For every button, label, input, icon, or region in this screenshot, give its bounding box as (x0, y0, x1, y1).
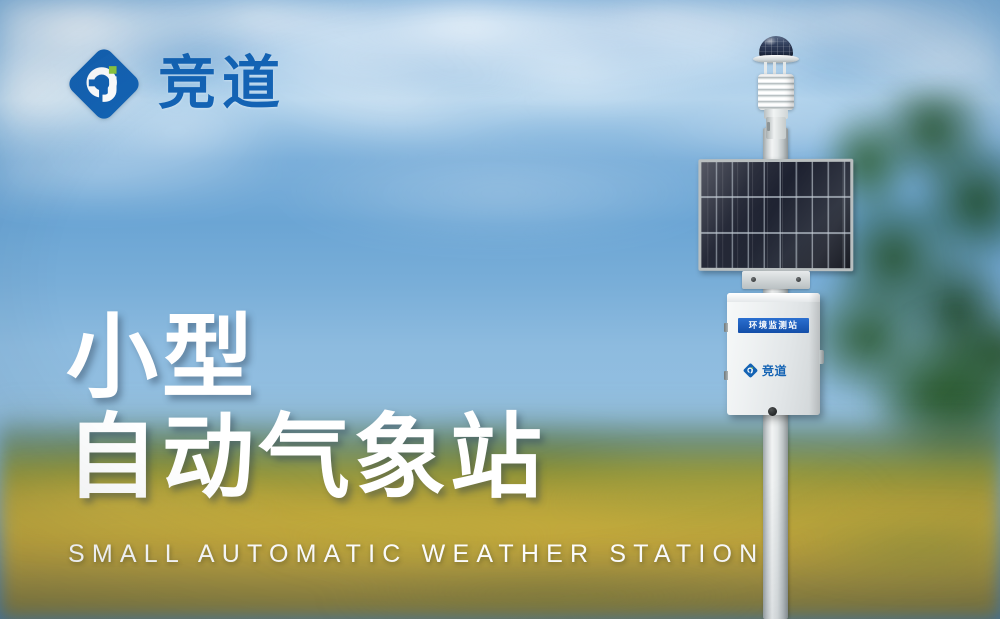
headline-block: 小型 自动气象站 (66, 312, 546, 506)
jingdao-diamond-logo-icon (66, 46, 142, 122)
weather-station-promo-banner: 环境监测站 竞道 (0, 0, 1000, 619)
brand-name: 竞道 (158, 55, 286, 113)
brand-header: 竞道 (66, 46, 286, 122)
subtitle-english: SMALL AUTOMATIC WEATHER STATION (68, 540, 764, 569)
headline-line-2: 自动气象站 (66, 412, 546, 506)
headline-line-1: 小型 (66, 312, 546, 406)
